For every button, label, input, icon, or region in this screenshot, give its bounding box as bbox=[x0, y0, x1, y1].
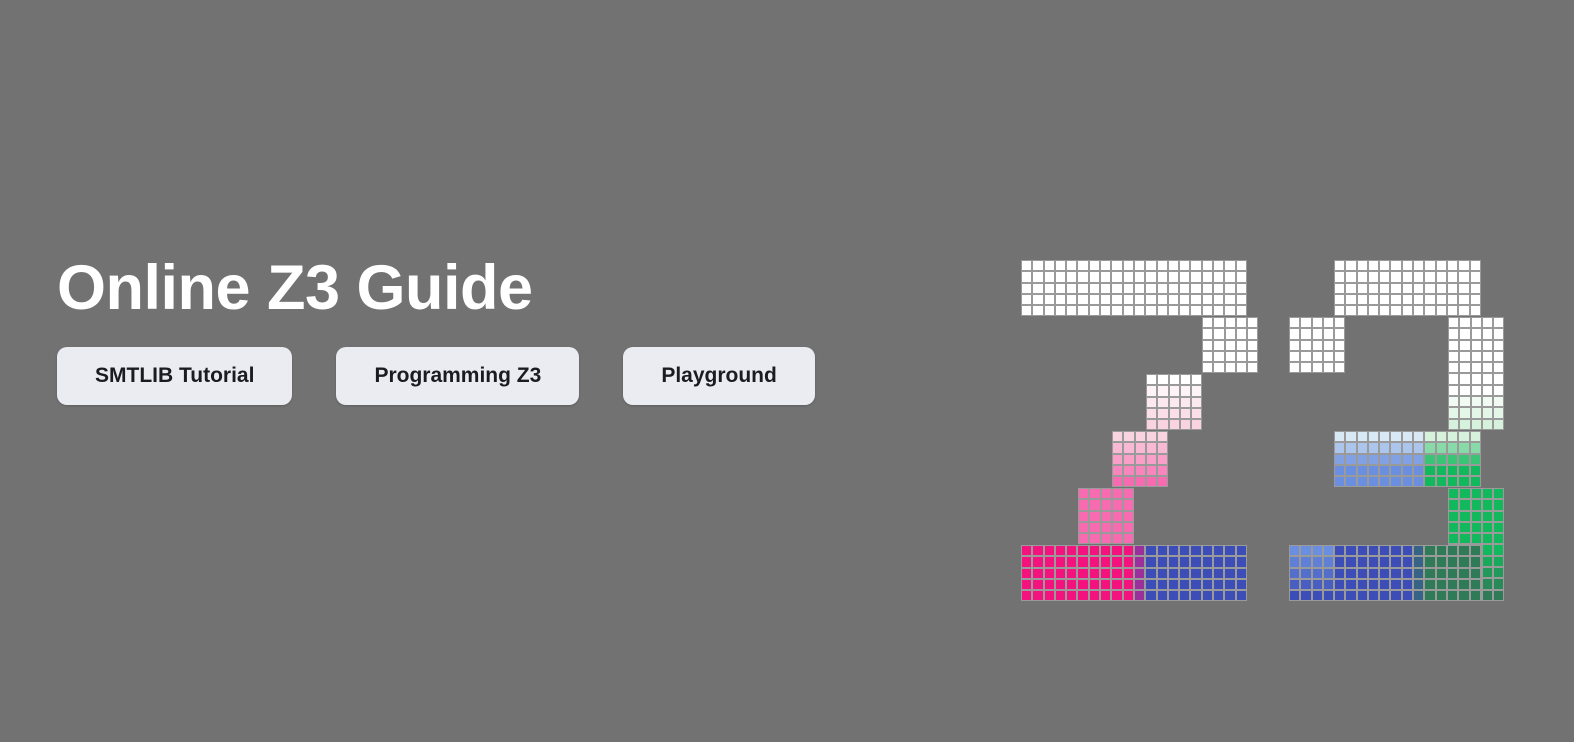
pixel-cell bbox=[1447, 305, 1458, 316]
pixel-cell bbox=[1180, 385, 1191, 396]
pixel-cell bbox=[1402, 465, 1413, 476]
pixel-cell bbox=[1436, 476, 1447, 487]
pixel-cell bbox=[1224, 283, 1235, 294]
pixel-cell bbox=[1447, 476, 1458, 487]
pixel-cell bbox=[1447, 590, 1458, 601]
pixel-cell bbox=[1379, 556, 1390, 567]
pixel-cell bbox=[1300, 362, 1311, 373]
pixel-cell bbox=[1032, 556, 1043, 567]
pixel-cell bbox=[1100, 590, 1111, 601]
pixel-cell bbox=[1334, 317, 1345, 328]
pixel-cell bbox=[1459, 499, 1470, 510]
pixel-cell bbox=[1089, 260, 1100, 271]
pixel-cell bbox=[1493, 419, 1504, 430]
pixel-cell bbox=[1123, 454, 1134, 465]
pixel-cell bbox=[1180, 408, 1191, 419]
pixel-cell bbox=[1168, 271, 1179, 282]
pixel-cell bbox=[1191, 419, 1202, 430]
pixel-cell bbox=[1345, 454, 1356, 465]
pixel-cell bbox=[1146, 419, 1157, 430]
pixel-cell bbox=[1066, 305, 1077, 316]
pixel-cell bbox=[1112, 499, 1123, 510]
pixel-cell bbox=[1190, 568, 1201, 579]
pixel-cell bbox=[1493, 590, 1504, 601]
pixel-cell bbox=[1334, 545, 1345, 556]
pixel-cell bbox=[1157, 305, 1168, 316]
pixel-cell bbox=[1345, 590, 1356, 601]
pixel-cell bbox=[1089, 271, 1100, 282]
pixel-cell bbox=[1482, 590, 1493, 601]
pixel-cell bbox=[1100, 556, 1111, 567]
pixel-cell bbox=[1179, 283, 1190, 294]
pixel-cell bbox=[1448, 488, 1459, 499]
pixel-cell bbox=[1236, 271, 1247, 282]
pixel-cell bbox=[1078, 522, 1089, 533]
pixel-cell bbox=[1123, 568, 1134, 579]
pixel-cell bbox=[1368, 431, 1379, 442]
pixel-cell bbox=[1190, 590, 1201, 601]
pixel-cell bbox=[1402, 556, 1413, 567]
pixel-cell bbox=[1493, 511, 1504, 522]
pixel-cell bbox=[1458, 579, 1469, 590]
pixel-cell bbox=[1077, 556, 1088, 567]
pixel-cell bbox=[1112, 522, 1123, 533]
pixel-cell bbox=[1447, 545, 1458, 556]
pixel-cell bbox=[1077, 579, 1088, 590]
pixel-cell bbox=[1447, 271, 1458, 282]
pixel-cell bbox=[1066, 260, 1077, 271]
pixel-cell bbox=[1493, 407, 1504, 418]
pixel-cell bbox=[1345, 556, 1356, 567]
pixel-cell bbox=[1413, 294, 1424, 305]
pixel-cell bbox=[1379, 260, 1390, 271]
pixel-cell bbox=[1459, 533, 1470, 544]
pixel-cell bbox=[1447, 465, 1458, 476]
pixel-cell bbox=[1146, 476, 1157, 487]
pixel-cell bbox=[1390, 556, 1401, 567]
pixel-cell bbox=[1077, 590, 1088, 601]
pixel-cell bbox=[1458, 260, 1469, 271]
pixel-cell bbox=[1146, 454, 1157, 465]
pixel-cell bbox=[1032, 294, 1043, 305]
pixel-cell bbox=[1482, 351, 1493, 362]
pixel-cell bbox=[1379, 431, 1390, 442]
pixel-cell bbox=[1459, 407, 1470, 418]
pixel-cell bbox=[1368, 260, 1379, 271]
pixel-cell bbox=[1101, 522, 1112, 533]
pixel-cell bbox=[1459, 511, 1470, 522]
pixel-cell bbox=[1323, 328, 1334, 339]
pixel-cell bbox=[1334, 590, 1345, 601]
pixel-cell bbox=[1289, 351, 1300, 362]
pixel-cell bbox=[1458, 294, 1469, 305]
pixel-cell bbox=[1368, 283, 1379, 294]
pixel-cell bbox=[1157, 374, 1168, 385]
pixel-cell bbox=[1413, 271, 1424, 282]
pixel-cell bbox=[1300, 579, 1311, 590]
pixel-cell bbox=[1470, 260, 1481, 271]
pixel-cell bbox=[1482, 419, 1493, 430]
pixel-cell bbox=[1368, 465, 1379, 476]
pixel-cell bbox=[1032, 568, 1043, 579]
pixel-cell bbox=[1145, 568, 1156, 579]
pixel-cell bbox=[1157, 590, 1168, 601]
pixel-cell bbox=[1402, 283, 1413, 294]
pixel-cell bbox=[1157, 579, 1168, 590]
pixel-cell bbox=[1168, 283, 1179, 294]
pixel-cell bbox=[1145, 271, 1156, 282]
pixel-cell bbox=[1236, 556, 1247, 567]
pixel-cell bbox=[1168, 590, 1179, 601]
pixel-cell bbox=[1459, 522, 1470, 533]
pixel-cell bbox=[1424, 590, 1435, 601]
pixel-cell bbox=[1169, 374, 1180, 385]
pixel-cell bbox=[1470, 579, 1481, 590]
pixel-cell bbox=[1424, 476, 1435, 487]
pixel-cell bbox=[1458, 545, 1469, 556]
pixel-cell bbox=[1055, 271, 1066, 282]
pixel-cell bbox=[1493, 385, 1504, 396]
pixel-cell bbox=[1179, 590, 1190, 601]
pixel-cell bbox=[1157, 294, 1168, 305]
pixel-cell bbox=[1202, 545, 1213, 556]
pixel-cell bbox=[1493, 522, 1504, 533]
pixel-cell bbox=[1123, 465, 1134, 476]
pixel-cell bbox=[1334, 454, 1345, 465]
pixel-cell bbox=[1236, 328, 1247, 339]
pixel-cell bbox=[1145, 590, 1156, 601]
pixel-cell bbox=[1055, 556, 1066, 567]
hero-section: Online Z3 Guide SMTLIB Tutorial Programm… bbox=[0, 0, 1574, 742]
pixel-cell bbox=[1146, 397, 1157, 408]
pixel-cell bbox=[1312, 317, 1323, 328]
pixel-cell bbox=[1202, 317, 1213, 328]
pixel-cell bbox=[1424, 294, 1435, 305]
pixel-cell bbox=[1357, 283, 1368, 294]
pixel-cell bbox=[1447, 283, 1458, 294]
pixel-cell bbox=[1169, 408, 1180, 419]
pixel-cell bbox=[1123, 294, 1134, 305]
pixel-cell bbox=[1448, 407, 1459, 418]
pixel-cell bbox=[1157, 465, 1168, 476]
pixel-cell bbox=[1145, 260, 1156, 271]
pixel-cell bbox=[1448, 351, 1459, 362]
pixel-cell bbox=[1424, 442, 1435, 453]
pixel-cell bbox=[1459, 385, 1470, 396]
pixel-cell bbox=[1334, 283, 1345, 294]
pixel-cell bbox=[1236, 545, 1247, 556]
pixel-cell bbox=[1123, 476, 1134, 487]
pixel-cell bbox=[1312, 590, 1323, 601]
pixel-cell bbox=[1044, 545, 1055, 556]
pixel-cell bbox=[1213, 305, 1224, 316]
pixel-cell bbox=[1334, 294, 1345, 305]
pixel-cell bbox=[1213, 556, 1224, 567]
pixel-cell bbox=[1482, 362, 1493, 373]
pixel-cell bbox=[1044, 260, 1055, 271]
pixel-cell bbox=[1213, 568, 1224, 579]
pixel-block-neck bbox=[1202, 317, 1258, 373]
pixel-cell bbox=[1179, 579, 1190, 590]
pixel-cell bbox=[1044, 294, 1055, 305]
pixel-cell bbox=[1066, 283, 1077, 294]
pixel-cell bbox=[1448, 511, 1459, 522]
pixel-cell bbox=[1112, 442, 1123, 453]
pixel-cell bbox=[1436, 579, 1447, 590]
pixel-cell bbox=[1066, 271, 1077, 282]
pixel-cell bbox=[1157, 283, 1168, 294]
pixel-cell bbox=[1123, 522, 1134, 533]
pixel-cell bbox=[1213, 590, 1224, 601]
pixel-cell bbox=[1180, 419, 1191, 430]
pixel-cell bbox=[1190, 283, 1201, 294]
pixel-cell bbox=[1077, 271, 1088, 282]
pixel-cell bbox=[1123, 590, 1134, 601]
pixel-cell bbox=[1123, 533, 1134, 544]
pixel-cell bbox=[1390, 476, 1401, 487]
pixel-cell bbox=[1190, 305, 1201, 316]
pixel-cell bbox=[1447, 442, 1458, 453]
pixel-cell bbox=[1089, 283, 1100, 294]
pixel-cell bbox=[1357, 271, 1368, 282]
pixel-cell bbox=[1123, 283, 1134, 294]
pixel-cell bbox=[1458, 271, 1469, 282]
pixel-cell bbox=[1470, 294, 1481, 305]
pixel-cell bbox=[1345, 271, 1356, 282]
pixel-cell bbox=[1482, 407, 1493, 418]
pixel-cell bbox=[1436, 442, 1447, 453]
pixel-cell bbox=[1345, 260, 1356, 271]
pixel-cell bbox=[1368, 305, 1379, 316]
pixel-cell bbox=[1493, 351, 1504, 362]
pixel-cell bbox=[1390, 579, 1401, 590]
pixel-cell bbox=[1289, 317, 1300, 328]
pixel-cell bbox=[1379, 442, 1390, 453]
pixel-block-top-bar bbox=[1334, 260, 1481, 316]
pixel-cell bbox=[1179, 545, 1190, 556]
pixel-cell bbox=[1402, 545, 1413, 556]
pixel-cell bbox=[1413, 545, 1424, 556]
pixel-cell bbox=[1021, 556, 1032, 567]
pixel-cell bbox=[1300, 340, 1311, 351]
pixel-cell bbox=[1357, 442, 1368, 453]
pixel-cell bbox=[1101, 499, 1112, 510]
pixel-cell bbox=[1044, 568, 1055, 579]
pixel-cell bbox=[1157, 385, 1168, 396]
pixel-cell bbox=[1493, 556, 1504, 567]
pixel-cell bbox=[1458, 305, 1469, 316]
pixel-cell bbox=[1225, 340, 1236, 351]
pixel-cell bbox=[1493, 499, 1504, 510]
pixel-cell bbox=[1357, 568, 1368, 579]
pixel-cell bbox=[1323, 351, 1334, 362]
pixel-cell bbox=[1100, 579, 1111, 590]
pixel-cell bbox=[1202, 556, 1213, 567]
pixel-cell bbox=[1089, 499, 1100, 510]
pixel-cell bbox=[1190, 556, 1201, 567]
pixel-cell bbox=[1379, 579, 1390, 590]
pixel-cell bbox=[1436, 545, 1447, 556]
pixel-cell bbox=[1334, 340, 1345, 351]
pixel-cell bbox=[1191, 397, 1202, 408]
pixel-cell bbox=[1413, 305, 1424, 316]
pixel-cell bbox=[1471, 351, 1482, 362]
pixel-cell bbox=[1334, 568, 1345, 579]
pixel-cell bbox=[1402, 568, 1413, 579]
pixel-cell bbox=[1077, 283, 1088, 294]
pixel-cell bbox=[1424, 556, 1435, 567]
pixel-cell bbox=[1213, 317, 1224, 328]
pixel-cell bbox=[1459, 351, 1470, 362]
pixel-cell bbox=[1123, 545, 1134, 556]
pixel-cell bbox=[1493, 317, 1504, 328]
pixel-block-step-2 bbox=[1078, 488, 1134, 544]
pixel-cell bbox=[1458, 465, 1469, 476]
pixel-cell bbox=[1225, 328, 1236, 339]
pixel-cell bbox=[1123, 488, 1134, 499]
pixel-cell bbox=[1236, 283, 1247, 294]
pixel-cell bbox=[1482, 488, 1493, 499]
pixel-cell bbox=[1180, 397, 1191, 408]
pixel-cell bbox=[1101, 488, 1112, 499]
pixel-cell bbox=[1323, 362, 1334, 373]
pixel-cell bbox=[1379, 294, 1390, 305]
pixel-cell bbox=[1134, 579, 1145, 590]
pixel-cell bbox=[1357, 294, 1368, 305]
pixel-cell bbox=[1202, 305, 1213, 316]
pixel-block-top-bar bbox=[1021, 260, 1247, 316]
pixel-cell bbox=[1390, 590, 1401, 601]
pixel-cell bbox=[1424, 271, 1435, 282]
pixel-cell bbox=[1493, 533, 1504, 544]
pixel-cell bbox=[1135, 431, 1146, 442]
pixel-cell bbox=[1100, 294, 1111, 305]
pixel-cell bbox=[1236, 351, 1247, 362]
pixel-cell bbox=[1224, 294, 1235, 305]
pixel-cell bbox=[1424, 431, 1435, 442]
pixel-cell bbox=[1424, 454, 1435, 465]
pixel-cell bbox=[1482, 533, 1493, 544]
pixel-cell bbox=[1179, 305, 1190, 316]
pixel-cell bbox=[1146, 465, 1157, 476]
pixel-cell bbox=[1168, 305, 1179, 316]
pixel-cell bbox=[1289, 568, 1300, 579]
pixel-cell bbox=[1436, 260, 1447, 271]
pixel-cell bbox=[1390, 431, 1401, 442]
pixel-cell bbox=[1236, 305, 1247, 316]
pixel-cell bbox=[1368, 442, 1379, 453]
pixel-cell bbox=[1224, 556, 1235, 567]
pixel-cell bbox=[1145, 283, 1156, 294]
pixel-cell bbox=[1402, 271, 1413, 282]
pixel-cell bbox=[1334, 271, 1345, 282]
pixel-cell bbox=[1179, 271, 1190, 282]
pixel-cell bbox=[1345, 283, 1356, 294]
pixel-cell bbox=[1300, 556, 1311, 567]
pixel-cell bbox=[1202, 579, 1213, 590]
pixel-cell bbox=[1168, 294, 1179, 305]
pixel-cell bbox=[1078, 488, 1089, 499]
pixel-cell bbox=[1111, 568, 1122, 579]
pixel-cell bbox=[1471, 511, 1482, 522]
pixel-cell bbox=[1493, 396, 1504, 407]
pixel-cell bbox=[1471, 522, 1482, 533]
pixel-cell bbox=[1111, 271, 1122, 282]
pixel-cell bbox=[1334, 260, 1345, 271]
pixel-cell bbox=[1458, 442, 1469, 453]
playground-button[interactable]: Playground bbox=[623, 347, 815, 405]
pixel-cell bbox=[1436, 590, 1447, 601]
pixel-cell bbox=[1482, 556, 1493, 567]
pixel-cell bbox=[1402, 305, 1413, 316]
pixel-cell bbox=[1470, 305, 1481, 316]
pixel-cell bbox=[1379, 283, 1390, 294]
pixel-cell bbox=[1179, 294, 1190, 305]
pixel-cell bbox=[1471, 362, 1482, 373]
pixel-cell bbox=[1168, 260, 1179, 271]
pixel-cell bbox=[1179, 556, 1190, 567]
pixel-cell bbox=[1111, 556, 1122, 567]
pixel-cell bbox=[1123, 442, 1134, 453]
pixel-cell bbox=[1169, 419, 1180, 430]
pixel-cell bbox=[1482, 511, 1493, 522]
pixel-cell bbox=[1482, 328, 1493, 339]
pixel-cell bbox=[1447, 454, 1458, 465]
smtlib-tutorial-button[interactable]: SMTLIB Tutorial bbox=[57, 347, 292, 405]
pixel-cell bbox=[1345, 476, 1356, 487]
pixel-cell bbox=[1134, 294, 1145, 305]
programming-z3-button[interactable]: Programming Z3 bbox=[336, 347, 579, 405]
pixel-cell bbox=[1066, 294, 1077, 305]
pixel-cell bbox=[1334, 556, 1345, 567]
pixel-cell bbox=[1379, 476, 1390, 487]
pixel-cell bbox=[1312, 545, 1323, 556]
pixel-cell bbox=[1471, 328, 1482, 339]
pixel-cell bbox=[1077, 568, 1088, 579]
pixel-cell bbox=[1323, 317, 1334, 328]
pixel-cell bbox=[1021, 545, 1032, 556]
pixel-cell bbox=[1055, 590, 1066, 601]
pixel-cell bbox=[1032, 579, 1043, 590]
pixel-cell bbox=[1390, 545, 1401, 556]
pixel-cell bbox=[1458, 454, 1469, 465]
pixel-cell bbox=[1021, 579, 1032, 590]
pixel-block-top-left bbox=[1289, 317, 1345, 373]
pixel-cell bbox=[1146, 442, 1157, 453]
pixel-cell bbox=[1402, 260, 1413, 271]
pixel-cell bbox=[1470, 568, 1481, 579]
pixel-cell bbox=[1112, 465, 1123, 476]
pixel-cell bbox=[1157, 271, 1168, 282]
pixel-cell bbox=[1493, 373, 1504, 384]
pixel-cell bbox=[1470, 476, 1481, 487]
pixel-cell bbox=[1145, 579, 1156, 590]
pixel-cell bbox=[1368, 294, 1379, 305]
pixel-cell bbox=[1357, 305, 1368, 316]
pixel-cell bbox=[1482, 317, 1493, 328]
pixel-cell bbox=[1032, 545, 1043, 556]
pixel-cell bbox=[1436, 305, 1447, 316]
pixel-cell bbox=[1368, 568, 1379, 579]
pixel-cell bbox=[1312, 340, 1323, 351]
pixel-cell bbox=[1134, 271, 1145, 282]
pixel-cell bbox=[1471, 533, 1482, 544]
pixel-cell bbox=[1123, 431, 1134, 442]
pixel-cell bbox=[1458, 590, 1469, 601]
pixel-cell bbox=[1312, 328, 1323, 339]
pixel-cell bbox=[1436, 271, 1447, 282]
pixel-cell bbox=[1157, 431, 1168, 442]
